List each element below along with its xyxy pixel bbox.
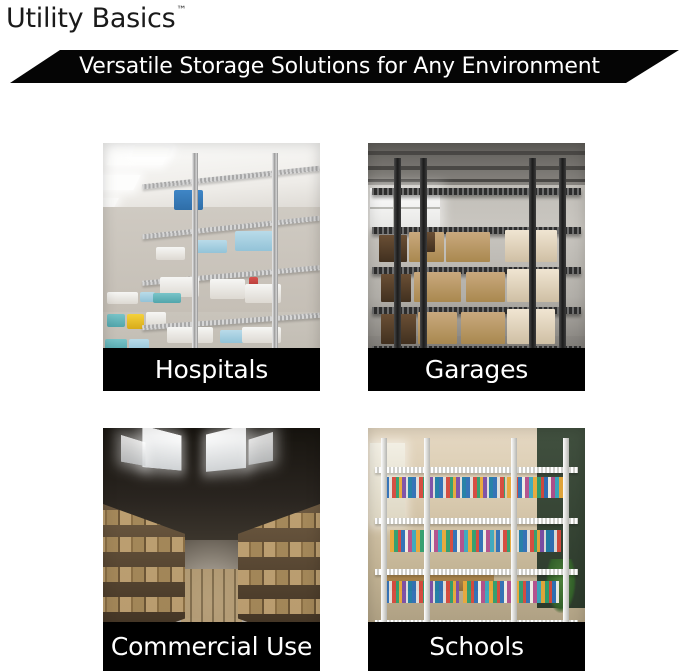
tile-label-commercial-use: Commercial Use <box>103 622 320 671</box>
category-tile-grid: Hospitals <box>103 143 585 671</box>
brand-name: Utility Basics <box>6 2 175 36</box>
category-tile-schools[interactable]: Schools <box>368 428 585 671</box>
category-tile-garages[interactable]: Garages <box>368 143 585 391</box>
tile-label-schools: Schools <box>368 622 585 671</box>
tile-label-hospitals: Hospitals <box>103 348 320 391</box>
category-tile-hospitals[interactable]: Hospitals <box>103 143 320 391</box>
brand-logo: Utility Basics ™ <box>6 2 186 36</box>
tile-label-garages: Garages <box>368 348 585 391</box>
category-tile-commercial-use[interactable]: Commercial Use <box>103 428 320 671</box>
banner-headline: Versatile Storage Solutions for Any Envi… <box>0 50 679 83</box>
trademark-symbol: ™ <box>176 4 186 18</box>
headline-banner: Versatile Storage Solutions for Any Envi… <box>0 50 679 86</box>
